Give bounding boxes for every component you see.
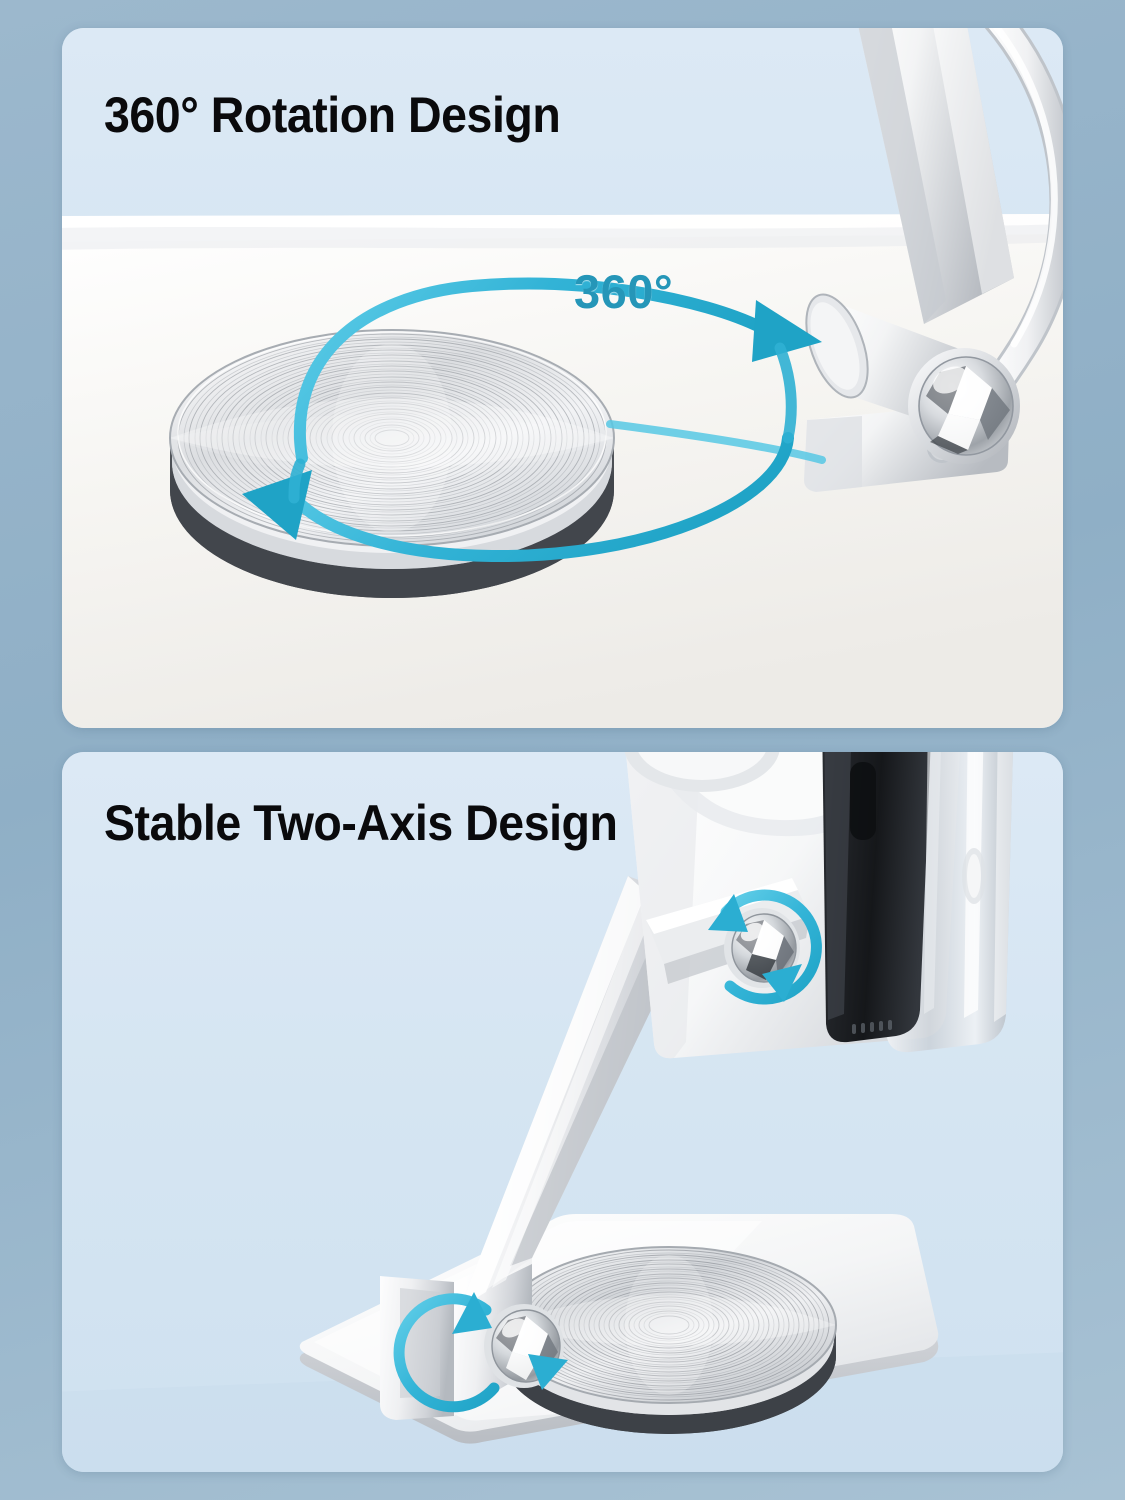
rotation-arc-lower bbox=[294, 438, 788, 556]
rotation-arrows-overlay-2 bbox=[62, 752, 1063, 1472]
panel-headline-rotation: 360° Rotation Design bbox=[104, 86, 560, 144]
circular-rotation-arrow-upper-icon bbox=[708, 894, 816, 1002]
panel-headline-two-axis: Stable Two-Axis Design bbox=[104, 794, 617, 852]
feature-panel-rotation: 360° Rotation Design 360° bbox=[62, 28, 1063, 728]
annotation-360-degrees: 360° bbox=[574, 264, 673, 319]
circular-rotation-arrow-lower-icon bbox=[399, 1292, 568, 1407]
rotation-arc-upper bbox=[300, 284, 762, 458]
page-background: 360° Rotation Design 360° bbox=[0, 0, 1125, 1500]
rotation-arrowhead-left bbox=[242, 470, 312, 540]
feature-panel-two-axis: Stable Two-Axis Design 180° 180° bbox=[62, 752, 1063, 1472]
